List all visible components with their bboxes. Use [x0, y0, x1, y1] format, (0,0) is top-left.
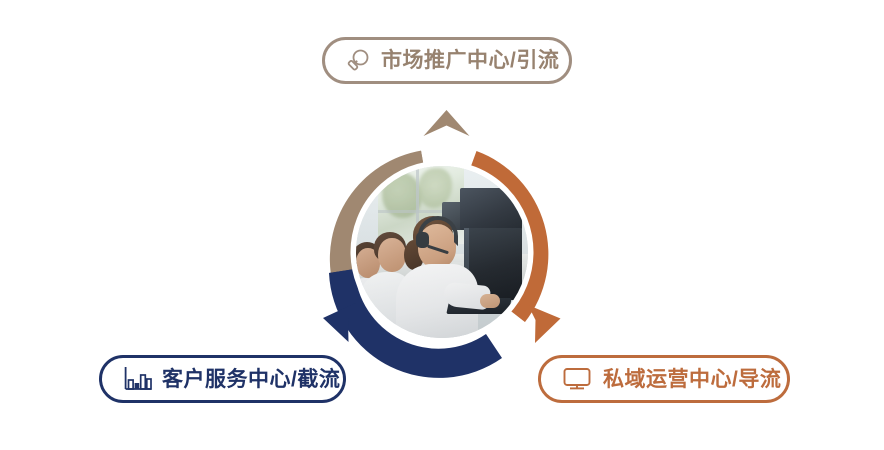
- node-private-label: 私域运营中心/导流: [603, 369, 781, 390]
- node-service-label: 客户服务中心/截流: [162, 369, 340, 390]
- node-private-domain[interactable]: 私域运营中心/导流: [538, 355, 790, 403]
- arrow-head-right: [528, 305, 561, 343]
- node-private-title: 私域运营中心: [603, 368, 732, 391]
- magnifier-icon: [343, 46, 373, 76]
- bar-chart-icon: [122, 364, 154, 394]
- node-service-suffix: 截流: [297, 368, 340, 391]
- node-market-promotion[interactable]: 市场推广中心/引流: [322, 37, 572, 84]
- monitor-icon: [561, 364, 593, 394]
- infographic-canvas: 市场推广中心/引流 客户服务中心/截流 私域运营中心/导流: [0, 0, 884, 450]
- node-customer-service[interactable]: 客户服务中心/截流: [99, 355, 346, 403]
- cycle-diagram: [296, 110, 588, 390]
- arrow-head-top: [424, 110, 470, 136]
- center-photo: [356, 166, 528, 338]
- node-market-label: 市场推广中心/引流: [381, 50, 559, 71]
- node-market-suffix: 引流: [516, 49, 559, 72]
- node-private-suffix: 导流: [738, 368, 781, 391]
- node-market-title: 市场推广中心: [381, 49, 510, 72]
- node-service-title: 客户服务中心: [162, 368, 291, 391]
